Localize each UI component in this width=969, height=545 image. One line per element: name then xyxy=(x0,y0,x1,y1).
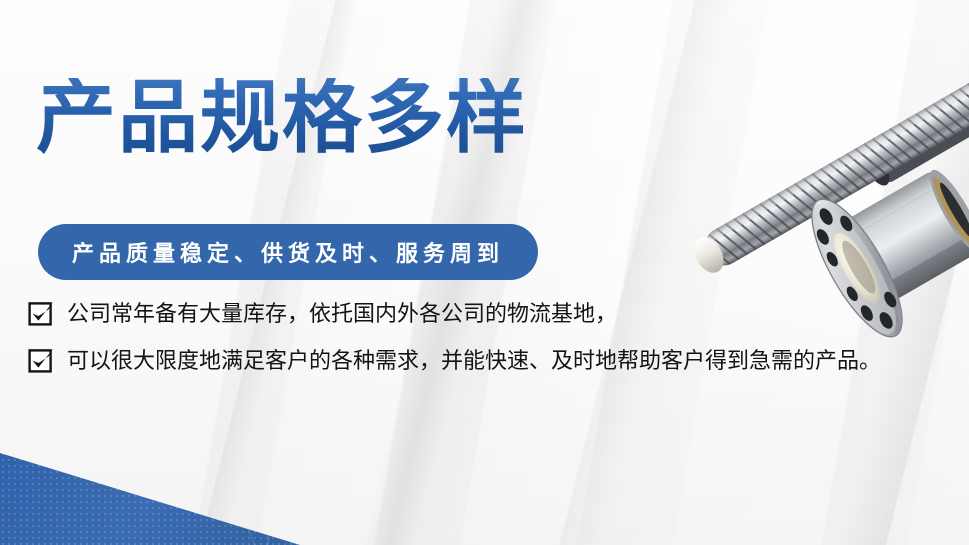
list-item: 公司常年备有大量库存，依托国内外各公司的物流基地， xyxy=(28,300,958,327)
decorative-blue-wedge xyxy=(0,445,300,545)
list-item-label: 公司常年备有大量库存，依托国内外各公司的物流基地， xyxy=(67,303,617,325)
list-item: 可以很大限度地满足客户的各种需求，并能快速、及时地帮助客户得到急需的产品。 xyxy=(28,347,958,374)
list-item-label: 可以很大限度地满足客户的各种需求，并能快速、及时地帮助客户得到急需的产品。 xyxy=(67,350,881,372)
background-diagonal-stripe xyxy=(811,0,969,545)
tagline-badge: 产品质量稳定、供货及时、服务周到 xyxy=(38,224,538,280)
background-diagonal-stripe xyxy=(534,0,763,545)
checkbox-checked-icon xyxy=(28,347,55,374)
checkbox-checked-icon xyxy=(28,300,55,327)
feature-list: 公司常年备有大量库存，依托国内外各公司的物流基地， 可以很大限度地满足客户的各种… xyxy=(28,300,958,394)
page-title: 产品规格多样 xyxy=(36,78,528,158)
product-banner: 产品规格多样 产品质量稳定、供货及时、服务周到 公司常年备有大量库存，依托国内外… xyxy=(0,0,969,545)
wedge-arc-line xyxy=(0,445,260,545)
